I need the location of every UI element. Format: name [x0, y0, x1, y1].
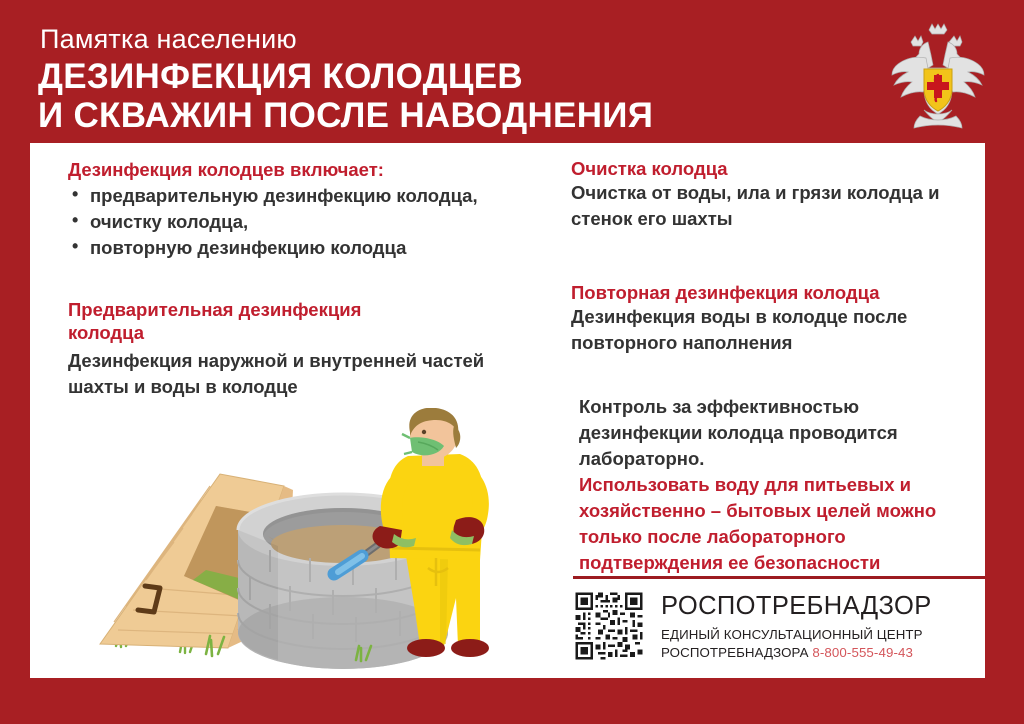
- control-body-red: Использовать воду для питьевых и хозяйст…: [579, 472, 979, 576]
- list-item: очистку колодца,: [68, 209, 518, 234]
- content-panel: Дезинфекция колодцев включает: предварит…: [30, 143, 985, 678]
- call-center-org: РОСПОТРЕБНАДЗОРА: [661, 645, 809, 660]
- repeat-heading: Повторная дезинфекция колодца: [571, 281, 981, 304]
- section-preliminary-disinfection: Предварительная дезинфекция колодца Дези…: [68, 298, 508, 400]
- control-body-dark: Контроль за эффективностью дезинфекции к…: [579, 394, 979, 472]
- right-column: Очистка колодца Очистка от воды, ила и г…: [543, 143, 985, 678]
- list-item: предварительную дезинфекцию колодца,: [68, 183, 518, 208]
- section-repeat-disinfection: Повторная дезинфекция колодца Дезинфекци…: [571, 281, 981, 356]
- call-center-line2: РОСПОТРЕБНАДЗОРА 8-800-555-49-43: [661, 645, 913, 660]
- section-well-cleaning: Очистка колодца Очистка от воды, ила и г…: [571, 157, 981, 232]
- repeat-body: Дезинфекция воды в колодце после повторн…: [571, 304, 981, 356]
- header-kicker: Памятка населению: [40, 24, 297, 55]
- poster-header: Памятка населению ДЕЗИНФЕКЦИЯ КОЛОДЦЕВ И…: [0, 0, 1024, 143]
- call-center-phone[interactable]: 8-800-555-49-43: [812, 645, 913, 660]
- russian-double-headed-eagle-emblem-icon: [884, 18, 992, 130]
- worker-cleaning-well-illustration: [88, 408, 508, 673]
- includes-heading: Дезинфекция колодцев включает:: [68, 158, 518, 181]
- header-title-line2: И СКВАЖИН ПОСЛЕ НАВОДНЕНИЯ: [38, 96, 653, 136]
- preliminary-heading-line2: колодца: [68, 321, 508, 344]
- header-title-line1: ДЕЗИНФЕКЦИЯ КОЛОДЦЕВ: [38, 57, 523, 97]
- section-includes: Дезинфекция колодцев включает: предварит…: [68, 158, 518, 261]
- qr-code[interactable]: [573, 590, 645, 662]
- preliminary-heading-line1: Предварительная дезинфекция: [68, 298, 508, 321]
- includes-list: предварительную дезинфекцию колодца, очи…: [68, 183, 518, 260]
- footer-divider: [573, 576, 985, 579]
- call-center-line1: ЕДИНЫЙ КОНСУЛЬТАЦИОННЫЙ ЦЕНТР: [661, 627, 923, 642]
- left-column: Дезинфекция колодцев включает: предварит…: [48, 143, 518, 678]
- section-control: Контроль за эффективностью дезинфекции к…: [579, 394, 979, 576]
- preliminary-body: Дезинфекция наружной и внутренней частей…: [68, 348, 508, 400]
- poster: Памятка населению ДЕЗИНФЕКЦИЯ КОЛОДЦЕВ И…: [0, 0, 1024, 724]
- cleaning-body: Очистка от воды, ила и грязи колодца и с…: [571, 180, 981, 232]
- list-item: повторную дезинфекцию колодца: [68, 235, 518, 260]
- rospotrebnadzor-brand: РОСПОТРЕБНАДЗОР: [661, 592, 932, 621]
- cleaning-heading: Очистка колодца: [571, 157, 981, 180]
- rospotrebnadzor-footer: РОСПОТРЕБНАДЗОР ЕДИНЫЙ КОНСУЛЬТАЦИОННЫЙ …: [573, 590, 985, 670]
